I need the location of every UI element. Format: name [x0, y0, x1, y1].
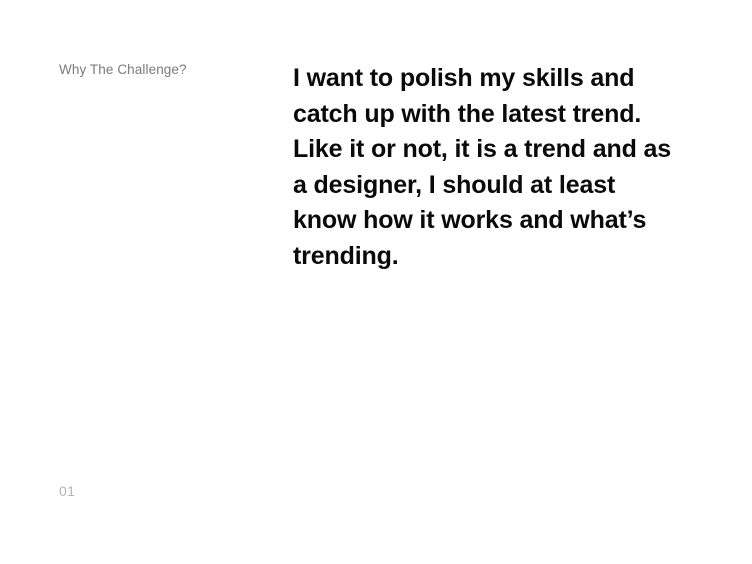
page-number: 01 — [59, 483, 75, 500]
section-label: Why The Challenge? — [59, 62, 187, 78]
slide-canvas: Why The Challenge? I want to polish my s… — [0, 0, 752, 564]
statement-text: I want to polish my skills and catch up … — [293, 61, 671, 275]
